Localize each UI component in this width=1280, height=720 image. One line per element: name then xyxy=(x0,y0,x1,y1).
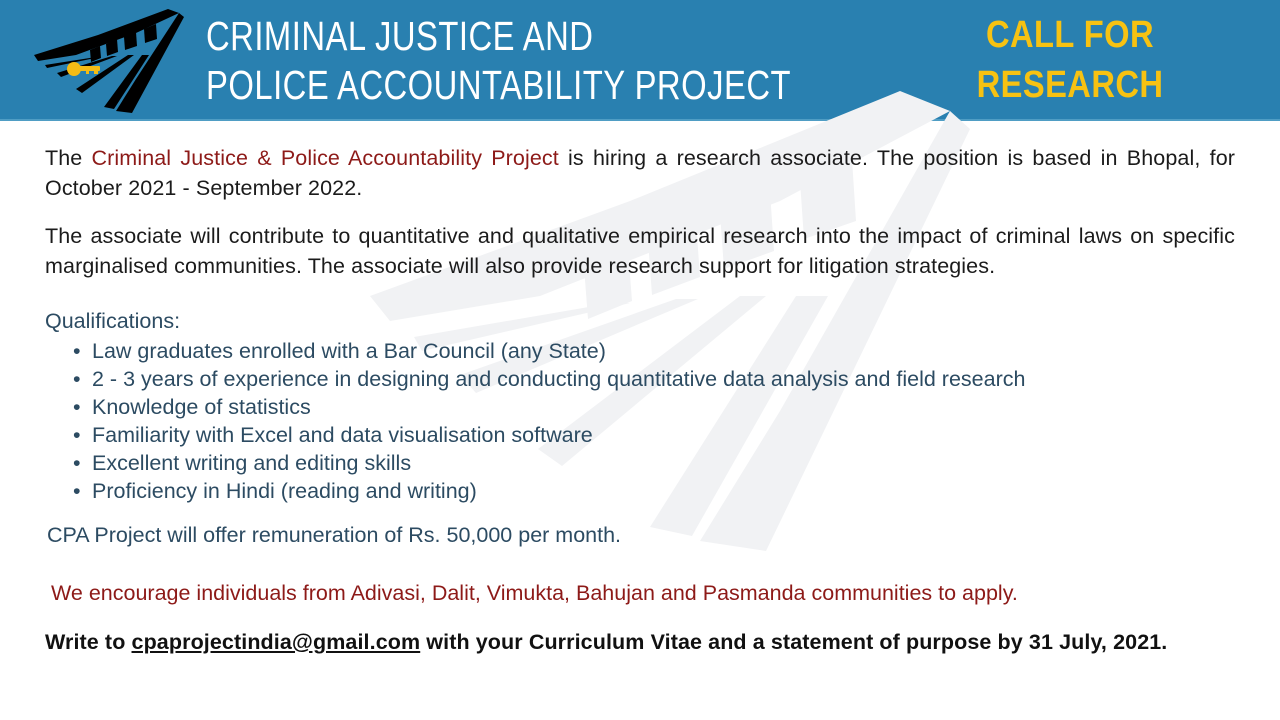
bullet-icon: • xyxy=(73,365,81,393)
org-title-line-1: CRIMINAL JUSTICE AND xyxy=(206,12,791,61)
bullet-icon: • xyxy=(73,449,81,477)
apply-before: Write to xyxy=(45,630,132,654)
qualifications-heading: Qualifications: xyxy=(45,307,1235,335)
poster-header: CRIMINAL JUSTICE AND POLICE ACCOUNTABILI… xyxy=(0,0,1280,121)
qualification-text: Knowledge of statistics xyxy=(92,395,311,419)
intro-before: The xyxy=(45,146,92,170)
job-posting-poster: CRIMINAL JUSTICE AND POLICE ACCOUNTABILI… xyxy=(0,0,1280,720)
bullet-icon: • xyxy=(73,393,81,421)
cjp-prison-bars-key-logo-icon xyxy=(16,5,206,115)
apply-instructions-paragraph: Write to cpaprojectindia@gmail.com with … xyxy=(45,627,1235,657)
org-title-line-2: POLICE ACCOUNTABILITY PROJECT xyxy=(206,61,791,110)
qualifications-list: •Law graduates enrolled with a Bar Counc… xyxy=(45,337,1235,505)
apply-after: with your Curriculum Vitae and a stateme… xyxy=(420,630,1167,654)
call-heading-line-2: RESEARCH ASSOCIATE xyxy=(889,60,1250,121)
role-description-paragraph: The associate will contribute to quantit… xyxy=(45,221,1235,281)
qualification-text: Excellent writing and editing skills xyxy=(92,451,411,475)
qualification-text: Familiarity with Excel and data visualis… xyxy=(92,423,593,447)
remuneration-paragraph: CPA Project will offer remuneration of R… xyxy=(47,521,1235,549)
bullet-icon: • xyxy=(73,337,81,365)
poster-content: The Criminal Justice & Police Accountabi… xyxy=(0,121,1280,657)
list-item: •Familiarity with Excel and data visuali… xyxy=(73,421,1235,449)
poster-body: The Criminal Justice & Police Accountabi… xyxy=(0,121,1280,720)
cjp-logo xyxy=(16,5,206,115)
application-email-link[interactable]: cpaprojectindia@gmail.com xyxy=(132,630,421,654)
encouragement-paragraph: We encourage individuals from Adivasi, D… xyxy=(51,579,1235,607)
intro-paragraph: The Criminal Justice & Police Accountabi… xyxy=(45,143,1235,203)
list-item: •Proficiency in Hindi (reading and writi… xyxy=(73,477,1235,505)
list-item: •Excellent writing and editing skills xyxy=(73,449,1235,477)
qualification-text: Law graduates enrolled with a Bar Counci… xyxy=(92,339,606,363)
list-item: •2 - 3 years of experience in designing … xyxy=(73,365,1235,393)
bullet-icon: • xyxy=(73,421,81,449)
bullet-icon: • xyxy=(73,477,81,505)
qualification-text: Proficiency in Hindi (reading and writin… xyxy=(92,479,477,503)
call-heading-line-1: CALL FOR xyxy=(889,10,1250,60)
qualification-text: 2 - 3 years of experience in designing a… xyxy=(92,367,1025,391)
list-item: •Knowledge of statistics xyxy=(73,393,1235,421)
org-name-highlight: Criminal Justice & Police Accountability… xyxy=(92,146,559,170)
call-for-heading: CALL FOR RESEARCH ASSOCIATE xyxy=(860,10,1280,121)
organisation-title: CRIMINAL JUSTICE AND POLICE ACCOUNTABILI… xyxy=(206,10,791,110)
list-item: •Law graduates enrolled with a Bar Counc… xyxy=(73,337,1235,365)
